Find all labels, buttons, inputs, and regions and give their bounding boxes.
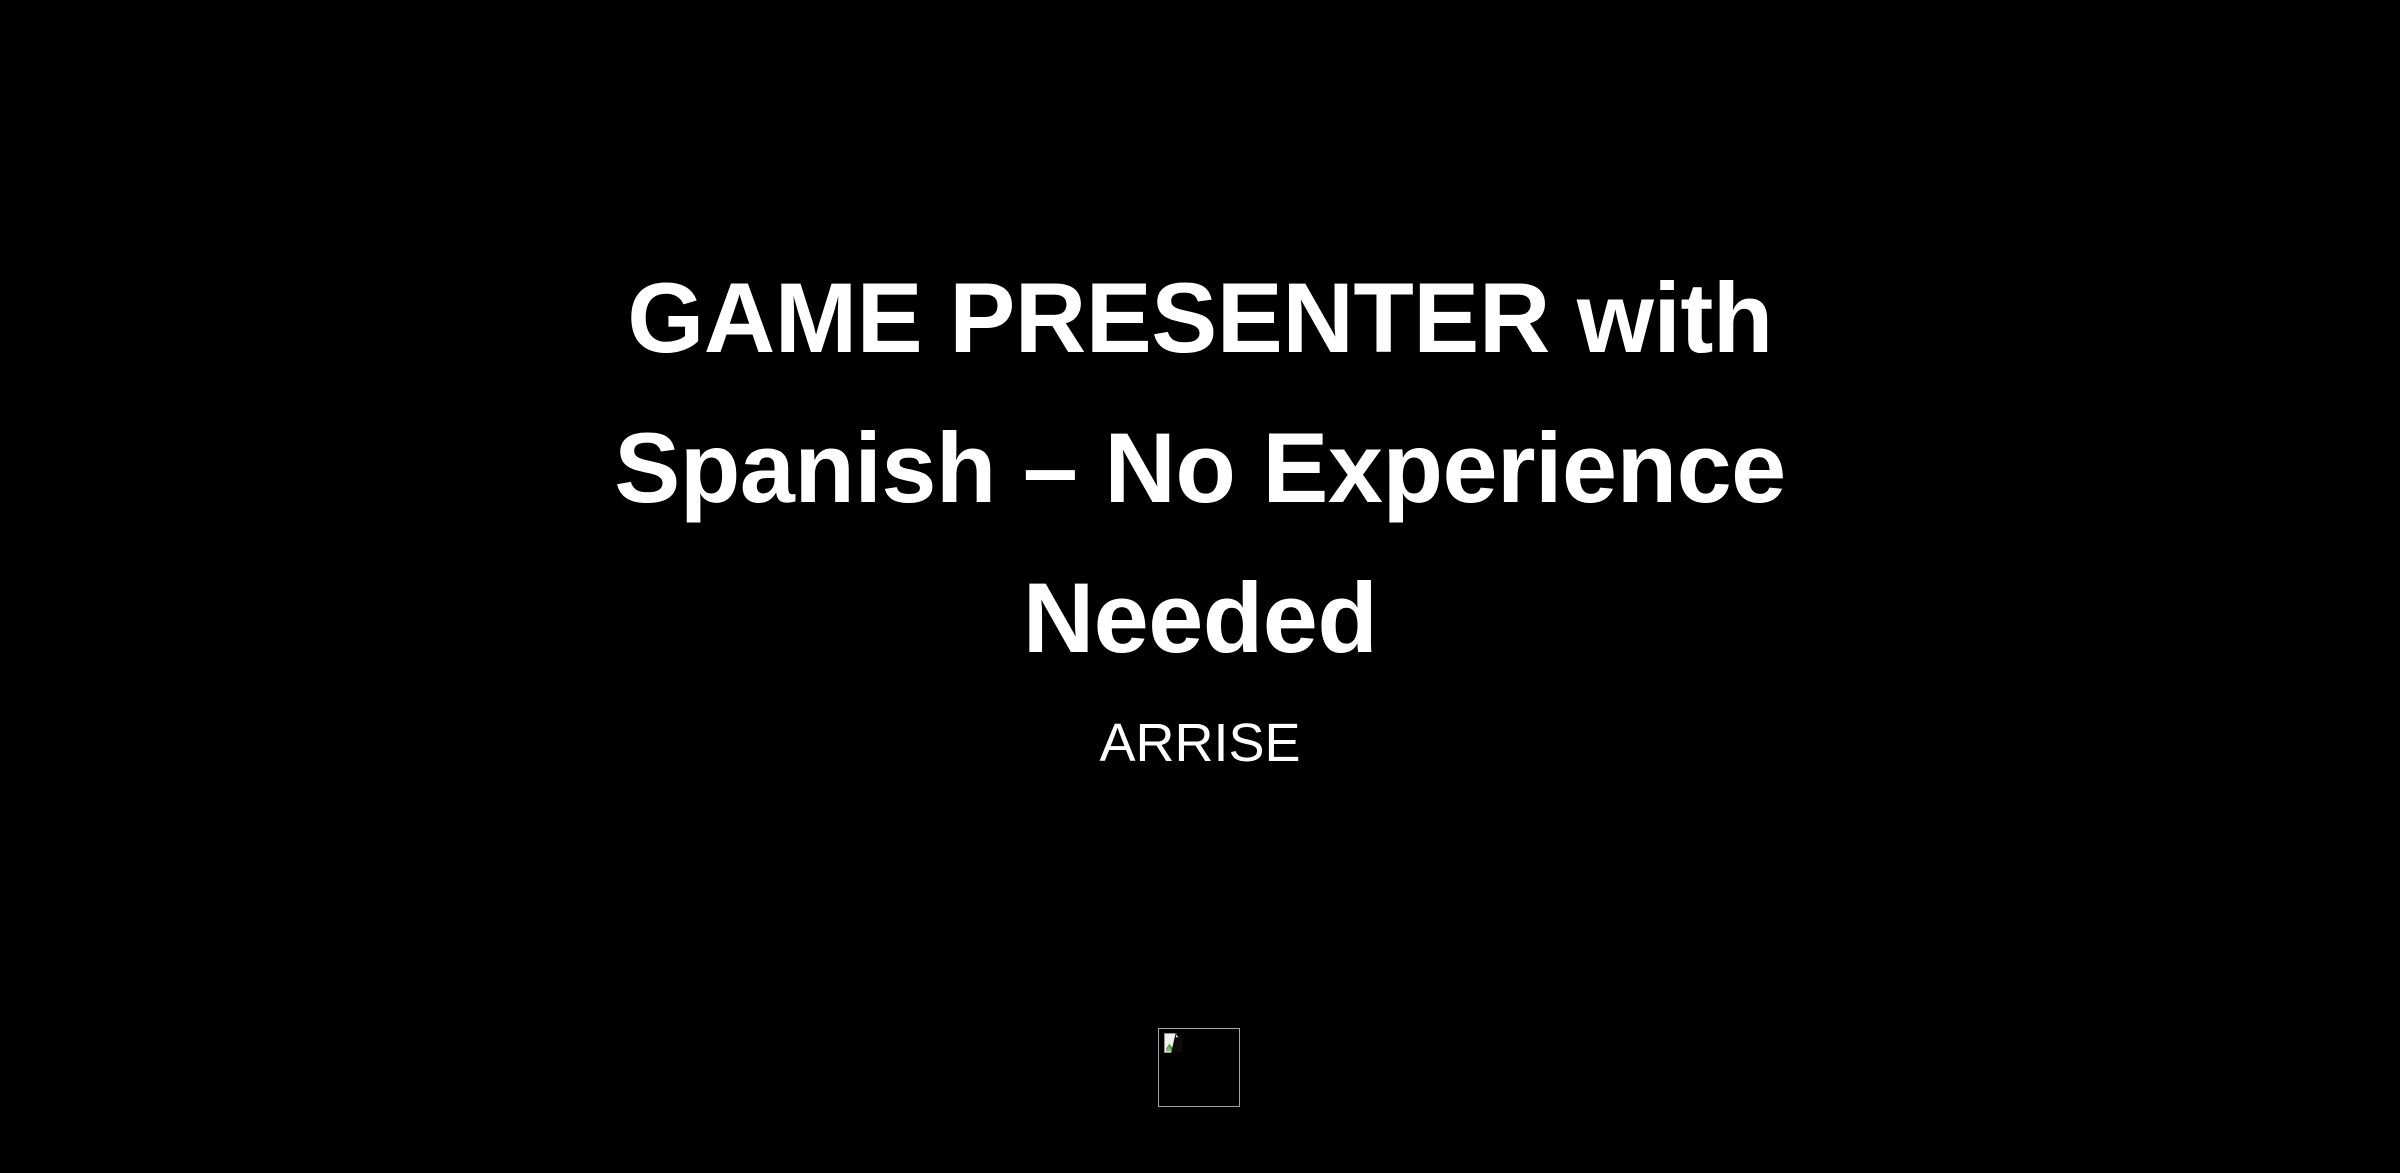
hero-section: GAME PRESENTER with Spanish – No Experie… [0, 0, 2400, 781]
page-root: GAME PRESENTER with Spanish – No Experie… [0, 0, 2400, 1173]
company-name: ARRISE [510, 693, 1890, 781]
logo-image-placeholder [1158, 1028, 1240, 1107]
broken-image-icon [1162, 1032, 1184, 1054]
page-title: GAME PRESENTER with Spanish – No Experie… [510, 0, 1890, 693]
